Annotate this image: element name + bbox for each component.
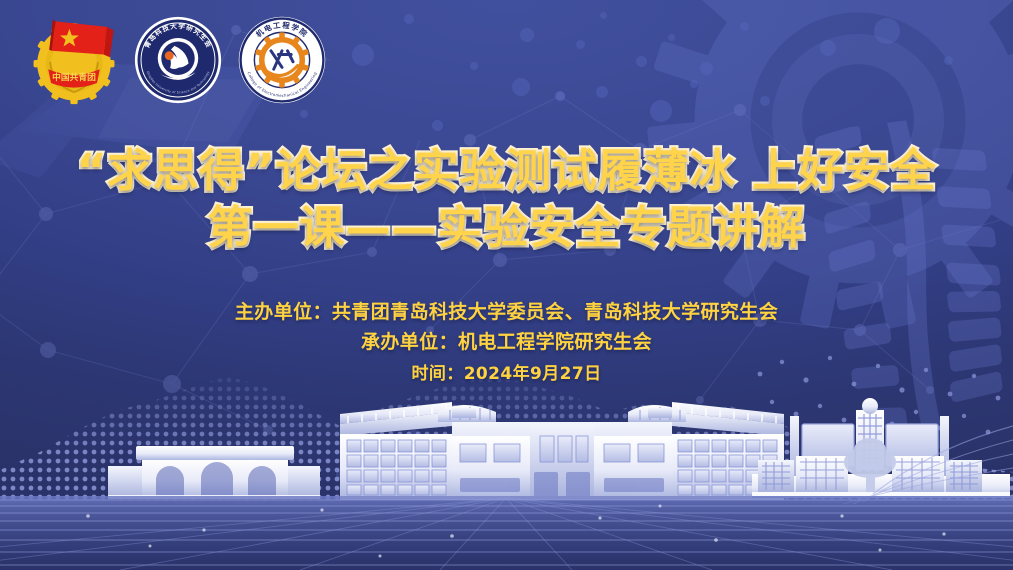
arched-campus-gate bbox=[108, 446, 320, 499]
title-line-1: “求思得”论坛之实验测试履薄冰 上好安全 bbox=[0, 142, 1013, 199]
electromechanical-college-seal-icon: 机电工程学院 College of Electromechanical Engi… bbox=[236, 14, 328, 106]
ground-grid bbox=[0, 496, 1013, 570]
qust-university-seal-icon: 青岛科技大学研究生会 Qingdao University of Science… bbox=[134, 16, 222, 104]
host-line: 承办单位：机电工程学院研究生会 bbox=[0, 327, 1013, 357]
communist-youth-league-emblem-icon: 中国共青团 bbox=[28, 14, 120, 106]
logo-row: 中国共青团 青岛科技大学研究生会 Qingdao University of S… bbox=[28, 14, 328, 106]
date-line: 时间：2024年9月27日 bbox=[0, 359, 1013, 389]
title-line-2: 第一课——实验安全专题讲解 bbox=[0, 199, 1013, 256]
organizer-line: 主办单位：共青团青岛科技大学委员会、青岛科技大学研究生会 bbox=[0, 297, 1013, 327]
page-title: “求思得”论坛之实验测试履薄冰 上好安全 第一课——实验安全专题讲解 bbox=[0, 142, 1013, 256]
conference-poster: 中国共青团 青岛科技大学研究生会 Qingdao University of S… bbox=[0, 0, 1013, 570]
subtitle-block: 主办单位：共青团青岛科技大学委员会、青岛科技大学研究生会 承办单位：机电工程学院… bbox=[0, 297, 1013, 389]
league-emblem-center-text: 中国共青团 bbox=[52, 71, 96, 83]
